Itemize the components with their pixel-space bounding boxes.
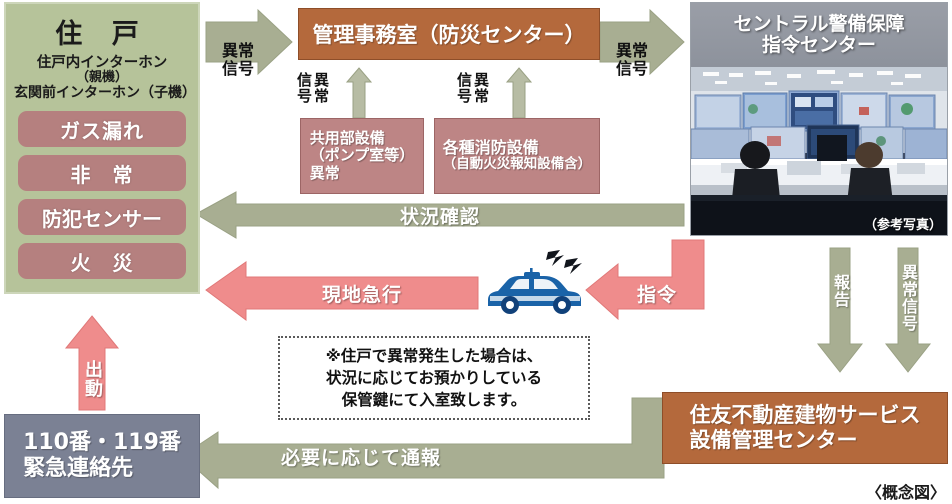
label-report-if-needed: 必要に応じて通報: [256, 443, 466, 469]
dwelling-title: 住 戸: [55, 12, 148, 51]
sumitomo-line-2: 設備管理センター: [690, 428, 921, 453]
dwelling-subtitle-line-3: 玄関前インターホン（子機）: [14, 86, 190, 102]
central-security-title-line-2: 指令センター: [762, 34, 876, 56]
label-dispatch-to-site: 現地急行: [272, 280, 452, 306]
arrow-fire-equipment-up: [507, 68, 531, 118]
fire-equipment-line-2: （自動火災報知設備含）: [443, 157, 592, 173]
fire-equipment-line-1: 各種消防設備: [443, 139, 592, 157]
label-abnormal-signal-down: 異常信号: [896, 252, 920, 344]
label-fire-equipment-signal-text: 信号: [456, 72, 471, 104]
label-dwelling-to-management-line-2: 信号: [206, 60, 270, 78]
label-management-to-central-line-1: 異常: [600, 42, 664, 60]
label-common-equipment-signal-text: 信号: [296, 72, 311, 104]
label-fire-equipment-abnormal: 異常: [473, 72, 488, 104]
common-equipment-box[interactable]: 共用部設備 （ポンプ室等） 異常: [300, 118, 424, 194]
fire-equipment-box[interactable]: 各種消防設備 （自動火災報知設備含）: [434, 118, 600, 194]
central-security-panel[interactable]: セントラル警備保障 指令センター （参考写真）: [690, 2, 948, 236]
photo-caption: （参考写真）: [864, 214, 942, 233]
label-status-check: 状況確認: [330, 203, 550, 227]
alarm-item-fire[interactable]: 火 災: [18, 243, 186, 279]
label-status-check-text: 状況確認: [400, 202, 480, 229]
emergency-contact-box[interactable]: 110番・119番 緊急連絡先: [4, 414, 200, 498]
note-line-3: 保管鍵にて入室致します。: [342, 391, 526, 409]
common-equipment-line-1: 共用部設備: [310, 130, 415, 147]
emergency-contact-line-1: 110番・119番: [23, 430, 181, 456]
alarm-item-gas-leak[interactable]: ガス漏れ: [18, 111, 186, 147]
patrol-car-icon: [482, 248, 586, 320]
management-office-label: 管理事務室（防災センター）: [313, 19, 586, 49]
central-security-header: セントラル警備保障 指令センター: [691, 3, 947, 67]
label-report: 報告: [828, 256, 852, 326]
emergency-contact-line-2: 緊急連絡先: [23, 456, 181, 482]
label-common-equipment-abnormal: 異常: [313, 72, 328, 104]
alarm-item-emergency[interactable]: 非 常: [18, 155, 186, 191]
sumitomo-line-1: 住友不動産建物サービス: [690, 403, 921, 428]
arrow-common-equipment-up: [347, 68, 371, 118]
label-abnormal-signal-down-text: 異常信号: [900, 264, 916, 332]
note-line-1: ※住戸で異常発生した場合は、: [326, 347, 543, 365]
central-security-title-line-1: セントラル警備保障: [733, 13, 904, 35]
diagram-canvas: 住 戸 住戸内インターホン （親機） 玄関前インターホン（子機） ガス漏れ 非 …: [0, 0, 952, 504]
label-order: 指令: [622, 280, 692, 306]
label-dispatch-to-site-text: 現地急行: [322, 280, 402, 307]
footnote-text: 〈概念図〉: [866, 483, 946, 502]
dwelling-subtitle-line-1: 住戸内インターホン: [14, 55, 190, 71]
dwelling-subtitle: 住戸内インターホン （親機） 玄関前インターホン（子機）: [14, 55, 190, 101]
label-management-to-central-line-2: 信号: [600, 60, 664, 78]
label-dwelling-to-management: 異常 信号: [206, 42, 270, 77]
alarm-item-emergency-label: 非 常: [71, 159, 134, 188]
alarm-item-security-sensor-label: 防犯センサー: [42, 203, 162, 232]
radio-wave-icon: [546, 250, 582, 274]
footnote: 〈概念図〉: [866, 479, 946, 503]
note-box: ※住戸で異常発生した場合は、 状況に応じてお預かりしている 保管鍵にて入室致しま…: [278, 336, 590, 420]
dwelling-panel: 住 戸 住戸内インターホン （親機） 玄関前インターホン（子機） ガス漏れ 非 …: [4, 2, 200, 294]
label-mobilize: 出動: [80, 350, 104, 408]
alarm-item-fire-label: 火 災: [71, 247, 134, 276]
label-mobilize-text: 出動: [83, 360, 101, 398]
common-equipment-line-3: 異常: [310, 165, 415, 182]
note-line-2: 状況に応じてお預かりしている: [326, 369, 542, 387]
label-fire-equipment-signal: 異常 信号: [456, 72, 488, 104]
label-dwelling-to-management-line-1: 異常: [206, 42, 270, 60]
label-common-equipment-signal: 異常 信号: [296, 72, 328, 104]
management-office-box[interactable]: 管理事務室（防災センター）: [298, 8, 600, 60]
label-report-if-needed-text: 必要に応じて通報: [281, 443, 441, 470]
label-report-text: 報告: [832, 274, 848, 308]
sumitomo-service-box[interactable]: 住友不動産建物サービス 設備管理センター: [662, 392, 948, 464]
alarm-item-gas-leak-label: ガス漏れ: [60, 115, 144, 144]
label-order-text: 指令: [637, 280, 677, 307]
alarm-item-security-sensor[interactable]: 防犯センサー: [18, 199, 186, 235]
common-equipment-line-2: （ポンプ室等）: [310, 147, 415, 164]
dwelling-subtitle-line-2: （親機）: [14, 71, 190, 86]
label-management-to-central: 異常 信号: [600, 42, 664, 77]
